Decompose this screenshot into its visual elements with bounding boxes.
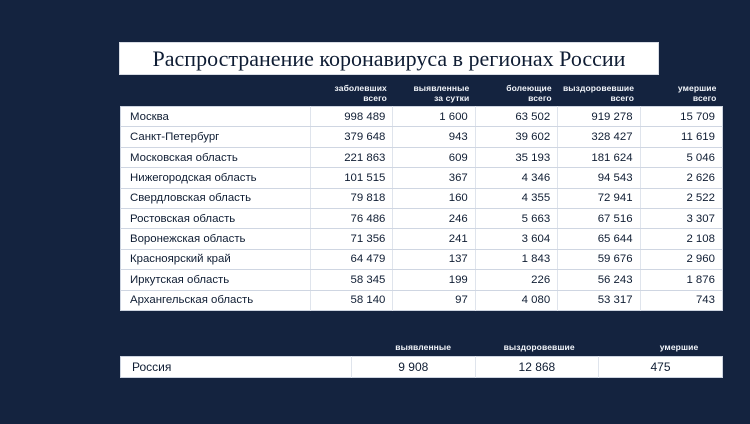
cell-deaths: 1 876	[640, 270, 722, 290]
cell-recovered: 72 941	[558, 188, 640, 208]
column-header-total-line2: всего	[363, 93, 387, 103]
column-header-recovered-line2: всего	[610, 93, 634, 103]
cell-total: 379 648	[311, 127, 393, 147]
cell-active: 4 080	[475, 290, 557, 310]
cell-daily: 943	[393, 127, 475, 147]
column-header-active: болеющие всего	[475, 84, 557, 107]
cell-recovered: 56 243	[558, 270, 640, 290]
cell-total: 58 140	[311, 290, 393, 310]
cell-recovered: 181 624	[558, 147, 640, 167]
column-header-recovered-line1: выздоровевшие	[563, 83, 634, 93]
cell-total: 998 489	[311, 107, 393, 127]
cell-total: 58 345	[311, 270, 393, 290]
region-name: Санкт-Петербург	[121, 127, 311, 147]
cell-daily: 246	[393, 208, 475, 228]
table-row: Нижегородская область101 5153674 34694 5…	[121, 168, 723, 188]
region-name: Нижегородская область	[121, 168, 311, 188]
regions-table-body: Москва998 4891 60063 502919 27815 709Сан…	[121, 107, 723, 311]
region-name: Красноярский край	[121, 249, 311, 269]
cell-daily: 241	[393, 229, 475, 249]
slide-title-box: Распространение коронавируса в регионах …	[119, 42, 659, 75]
region-name: Ростовская область	[121, 208, 311, 228]
cell-deaths: 15 709	[640, 107, 722, 127]
summary-table: выявленные выздоровевшие умершие Россия9…	[120, 343, 723, 378]
cell-active: 5 663	[475, 208, 557, 228]
summary-cell-daily: 9 908	[352, 356, 476, 377]
summary-cell-recovered: 12 868	[475, 356, 599, 377]
column-header-daily-line1: выявленные	[413, 83, 469, 93]
column-header-total: заболевших всего	[311, 84, 393, 107]
summary-table-container: выявленные выздоровевшие умершие Россия9…	[120, 343, 722, 378]
column-header-deaths-line2: всего	[693, 93, 717, 103]
table-row: Архангельская область58 140974 08053 317…	[121, 290, 723, 310]
summary-region-name: Россия	[121, 356, 352, 377]
cell-total: 64 479	[311, 249, 393, 269]
cell-recovered: 328 427	[558, 127, 640, 147]
cell-daily: 367	[393, 168, 475, 188]
table-row: Воронежская область71 3562413 60465 6442…	[121, 229, 723, 249]
cell-recovered: 67 516	[558, 208, 640, 228]
cell-daily: 160	[393, 188, 475, 208]
cell-active: 1 843	[475, 249, 557, 269]
page-title: Распространение коронавируса в регионах …	[153, 48, 626, 70]
region-name: Московская область	[121, 147, 311, 167]
summary-column-header-deaths: умершие	[599, 343, 723, 356]
column-header-deaths: умершие всего	[640, 84, 722, 107]
cell-deaths: 743	[640, 290, 722, 310]
cell-total: 71 356	[311, 229, 393, 249]
cell-deaths: 2 522	[640, 188, 722, 208]
cell-daily: 97	[393, 290, 475, 310]
column-header-daily-line2: за сутки	[434, 93, 469, 103]
cell-active: 35 193	[475, 147, 557, 167]
cell-active: 4 355	[475, 188, 557, 208]
cell-daily: 137	[393, 249, 475, 269]
region-name: Москва	[121, 107, 311, 127]
cell-daily: 1 600	[393, 107, 475, 127]
table-row: Ростовская область76 4862465 66367 5163 …	[121, 208, 723, 228]
cell-recovered: 919 278	[558, 107, 640, 127]
column-header-active-line1: болеющие	[506, 83, 551, 93]
column-header-recovered: выздоровевшие всего	[558, 84, 640, 107]
cell-recovered: 59 676	[558, 249, 640, 269]
cell-active: 4 346	[475, 168, 557, 188]
cell-daily: 609	[393, 147, 475, 167]
region-name: Воронежская область	[121, 229, 311, 249]
summary-header-row: выявленные выздоровевшие умершие	[121, 343, 723, 356]
cell-recovered: 65 644	[558, 229, 640, 249]
table-row: Красноярский край64 4791371 84359 6762 9…	[121, 249, 723, 269]
cell-total: 76 486	[311, 208, 393, 228]
column-header-region	[121, 84, 311, 107]
region-name: Свердловская область	[121, 188, 311, 208]
cell-deaths: 2 108	[640, 229, 722, 249]
table-row: Иркутская область58 34519922656 2431 876	[121, 270, 723, 290]
cell-recovered: 94 543	[558, 168, 640, 188]
cell-total: 101 515	[311, 168, 393, 188]
table-header-row: заболевших всего выявленные за сутки бол…	[121, 84, 723, 107]
summary-row: Россия9 90812 868475	[121, 356, 723, 377]
summary-cell-deaths: 475	[599, 356, 723, 377]
cell-active: 63 502	[475, 107, 557, 127]
cell-total: 221 863	[311, 147, 393, 167]
table-row: Москва998 4891 60063 502919 27815 709	[121, 107, 723, 127]
cell-active: 3 604	[475, 229, 557, 249]
cell-recovered: 53 317	[558, 290, 640, 310]
summary-table-body: Россия9 90812 868475	[121, 356, 723, 377]
cell-daily: 199	[393, 270, 475, 290]
cell-deaths: 2 960	[640, 249, 722, 269]
regions-table: заболевших всего выявленные за сутки бол…	[120, 84, 723, 311]
cell-deaths: 3 307	[640, 208, 722, 228]
cell-active: 226	[475, 270, 557, 290]
table-row: Свердловская область79 8181604 35572 941…	[121, 188, 723, 208]
summary-column-header-recovered: выздоровевшие	[475, 343, 599, 356]
cell-active: 39 602	[475, 127, 557, 147]
column-header-deaths-line1: умершие	[678, 83, 717, 93]
cell-deaths: 5 046	[640, 147, 722, 167]
summary-column-header-region	[121, 343, 352, 356]
cell-deaths: 2 626	[640, 168, 722, 188]
cell-total: 79 818	[311, 188, 393, 208]
column-header-total-line1: заболевших	[335, 83, 387, 93]
column-header-daily: выявленные за сутки	[393, 84, 475, 107]
table-row: Московская область221 86360935 193181 62…	[121, 147, 723, 167]
summary-column-header-daily: выявленные	[352, 343, 476, 356]
region-name: Архангельская область	[121, 290, 311, 310]
column-header-active-line2: всего	[528, 93, 552, 103]
table-row: Санкт-Петербург379 64894339 602328 42711…	[121, 127, 723, 147]
regions-table-container: заболевших всего выявленные за сутки бол…	[120, 84, 722, 311]
cell-deaths: 11 619	[640, 127, 722, 147]
region-name: Иркутская область	[121, 270, 311, 290]
